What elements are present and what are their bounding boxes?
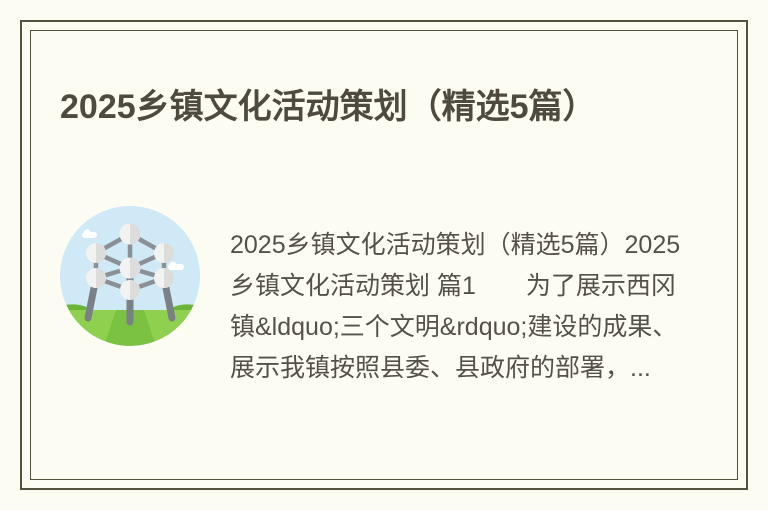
article-preview: 2025乡镇文化活动策划（精选5篇）2025乡镇文化活动策划 篇1 为了展示西冈…: [60, 200, 700, 414]
atomium-illustration-svg: [60, 206, 200, 346]
page-title: 2025乡镇文化活动策划（精选5篇）: [60, 81, 700, 133]
page-root: 2025乡镇文化活动策划（精选5篇）: [0, 0, 768, 510]
thumbnail-container: [60, 200, 208, 346]
article-summary: 2025乡镇文化活动策划（精选5篇）2025乡镇文化活动策划 篇1 为了展示西冈…: [230, 225, 700, 389]
atomium-icon: [60, 206, 200, 346]
